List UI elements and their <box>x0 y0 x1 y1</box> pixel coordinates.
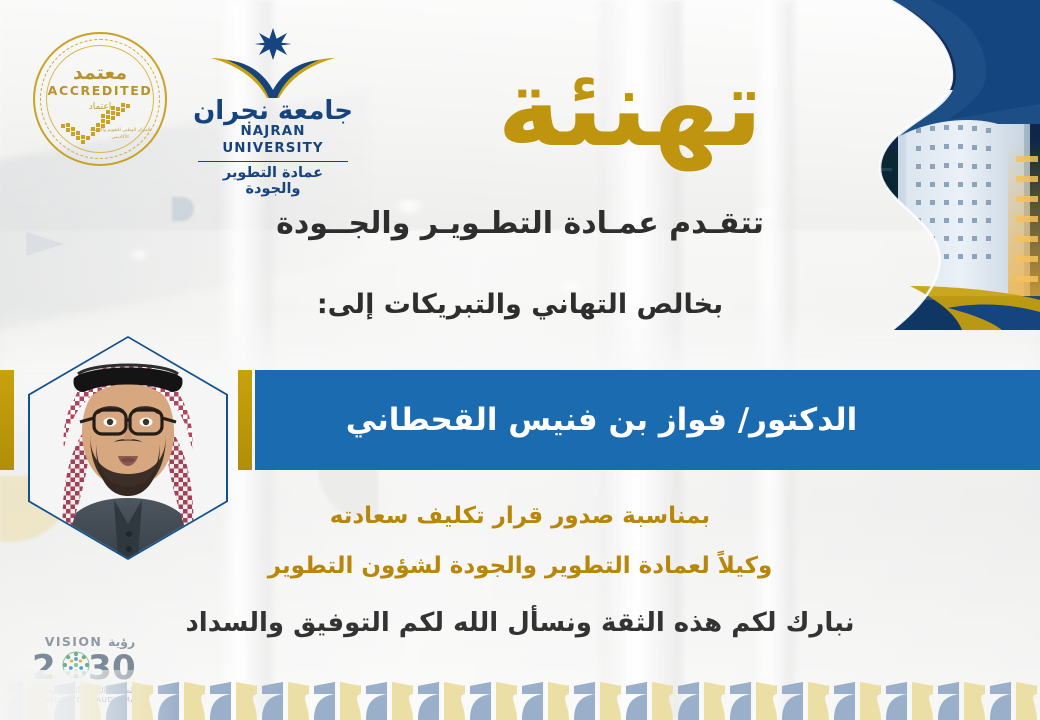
honoree-name: الدكتور/ فواز بن فنيس القحطاني <box>255 402 948 438</box>
vision-wordmark: VISION رؤية <box>22 634 162 649</box>
intro-line-2: بخالص التهاني والتبريكات إلى: <box>170 288 870 322</box>
honoree-name-banner: الدكتور/ فواز بن فنيس القحطاني <box>255 370 1040 470</box>
body-gold-line-2: وكيلاً لعمادة التطوير والجودة لشؤون التط… <box>120 552 920 582</box>
ceiling-light-icon <box>128 250 150 259</box>
vision-word-en: VISION <box>45 634 102 649</box>
closing-line: نبارك لكم هذه الثقة ونسأل الله لكم التوف… <box>105 608 935 638</box>
page-title: تهنئة <box>500 34 760 184</box>
university-emblem-icon <box>193 28 353 100</box>
intro-line-1: تتقـدم عمـادة التطـويـر والجــودة <box>170 205 870 243</box>
university-department-name: عمادة التطوير والجودة <box>193 165 353 197</box>
body-gold-line-1: بمناسبة صدور قرار تكليف سعادته <box>120 502 920 532</box>
banner-gold-accent-left <box>0 370 14 470</box>
top-right-wave-decoration <box>780 0 1040 330</box>
university-english-name: NAJRAN UNIVERSITY <box>193 124 353 158</box>
najran-university-logo: جامعة نجران NAJRAN UNIVERSITY عمادة التط… <box>193 28 353 166</box>
seal-authority-text: المركز الوطني للتقويم والاعتماد الأكاديم… <box>89 128 151 142</box>
logo-divider <box>198 161 348 163</box>
banner-gold-accent <box>238 370 252 470</box>
strip-left-fade <box>0 670 180 720</box>
bottom-ornament-strip <box>0 670 1040 720</box>
seal-arabic-label: معتمد <box>33 62 167 84</box>
accreditation-seal: معتمد ACCREDITED اعتماد <box>33 32 167 166</box>
checkmark-icon <box>55 102 147 150</box>
vision-word-ar: رؤية <box>108 634 135 649</box>
seal-english-label: ACCREDITED <box>33 83 167 98</box>
congratulation-poster: معتمد ACCREDITED اعتماد <box>0 0 1040 720</box>
university-arabic-name: جامعة نجران <box>193 98 353 124</box>
